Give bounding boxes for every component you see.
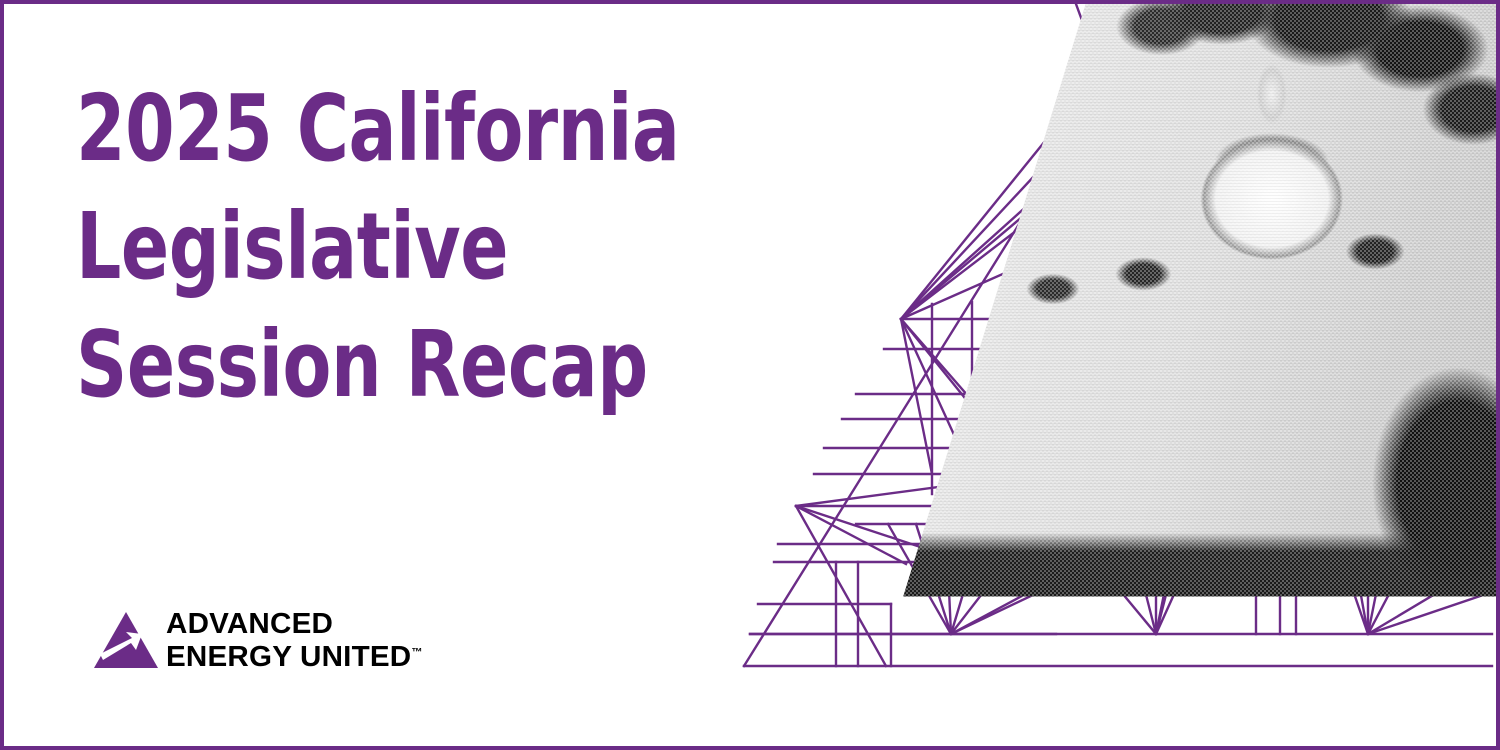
page-title: 2025 California Legislative Session Reca… bbox=[76, 70, 781, 423]
trademark-symbol: ™ bbox=[411, 646, 422, 658]
banner-graphic: 2025 California Legislative Session Reca… bbox=[0, 0, 1500, 750]
advanced-energy-united-logo: ADVANCED ENERGY UNITED™ bbox=[92, 610, 418, 672]
logo-wordmark: ADVANCED ENERGY UNITED™ bbox=[166, 610, 418, 672]
photo-grain-overlay bbox=[736, 4, 1496, 750]
triangle-arrow-icon bbox=[92, 610, 160, 672]
logo-line-energy-united: ENERGY UNITED™ bbox=[166, 643, 423, 673]
logo-energy-united-text: ENERGY UNITED bbox=[166, 641, 411, 673]
capitol-photo bbox=[736, 4, 1496, 750]
logo-line-advanced: ADVANCED bbox=[166, 610, 423, 640]
